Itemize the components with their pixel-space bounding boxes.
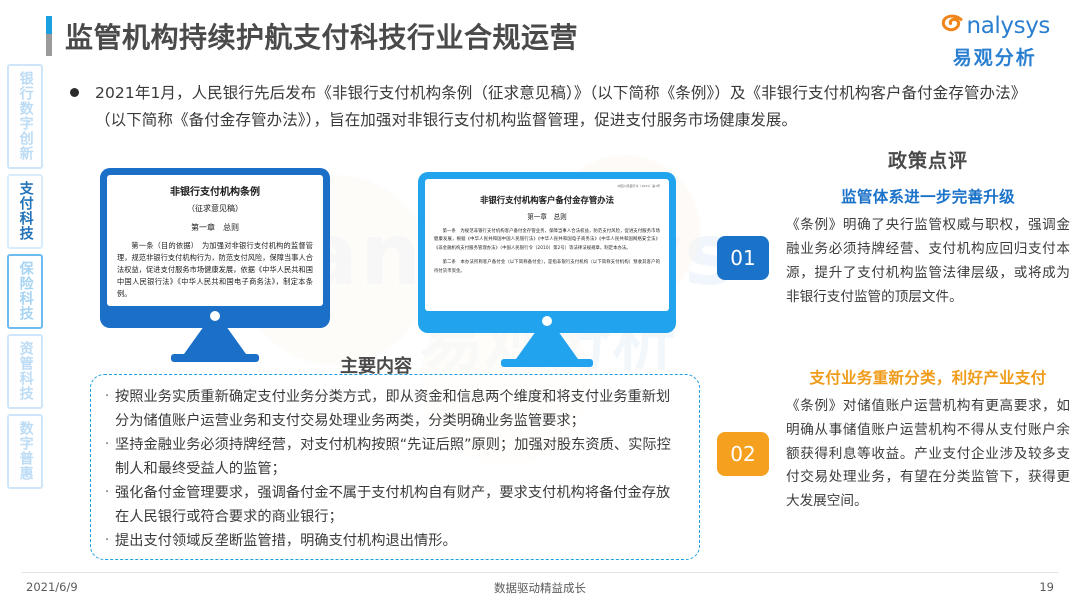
document-title: 非银行支付机构条例 <box>117 183 313 198</box>
document-paragraph-1: 第一条 为规范非银行支付机构客户备付金存管业务，保障当事人合法权益，防范支付风险… <box>434 228 660 253</box>
sidebar: 银行数字创新 支付科技 保险科技 资管科技 数字普惠 <box>7 64 43 489</box>
monitor-one-stand-neck <box>184 328 246 354</box>
document-paragraph-2: 第二条 本办法所称客户备付金（以下简称备付金），是指非银行支付机构（以下简称支付… <box>434 259 660 276</box>
list-item-text: 坚持金融业务必须持牌经营，对支付机构按照“先证后照”原则；加强对股东资质、实际控… <box>115 434 683 481</box>
policy-heading: 监管体系进一步完善升级 <box>786 185 1070 207</box>
brand-logo: nalysys 易观分析 <box>940 12 1050 70</box>
monitor-two-bezel: 中国人民银行令〔2021〕第1号 非银行支付机构客户备付金存管办法 第一章 总则… <box>418 172 676 333</box>
title-accent-bar <box>46 16 52 56</box>
list-item-text: 按照业务实质重新确定支付业务分类方式，即从资金和信息两个维度和将支付业务重新划分… <box>115 386 683 433</box>
sidebar-item-label: 保险科技 <box>17 261 32 321</box>
footer: 2021/6/9 数据驱动精益成长 19 <box>0 576 1080 606</box>
step-badge-label: 01 <box>730 246 755 270</box>
lead-paragraph-text: 2021年1月，人民银行先后发布《非银行支付机构条例（征求意见稿）》（以下简称《… <box>95 80 1030 133</box>
document-title: 非银行支付机构客户备付金存管办法 <box>434 194 660 206</box>
list-item: · 提出支付领域反垄断监管措，明确支付机构退出情形。 <box>105 530 683 554</box>
step-badge-02: 02 <box>717 432 769 476</box>
monitor-two-screen: 中国人民银行令〔2021〕第1号 非银行支付机构客户备付金存管办法 第一章 总则… <box>425 179 669 311</box>
policy-block-one: 监管体系进一步完善升级 《条例》明确了央行监管权威与职权，强调金融业务必须持牌经… <box>786 185 1070 310</box>
sidebar-item-label: 支付科技 <box>17 181 32 241</box>
sidebar-item-label: 银行数字创新 <box>17 71 32 161</box>
monitor-two-indicator-dot <box>542 316 552 326</box>
sidebar-item-asset-tech[interactable]: 资管科技 <box>7 334 43 409</box>
document-regulation-draft: 非银行支付机构条例 （征求意见稿） 第一章 总则 第一条（目的依据） 为加强对非… <box>107 175 323 306</box>
slide-root: analysys 易观分析 监管机构持续护航支付科技行业合规运营 nalysys… <box>0 0 1080 608</box>
list-bullet-icon: · <box>105 386 115 433</box>
monitor-two: 中国人民银行令〔2021〕第1号 非银行支付机构客户备付金存管办法 第一章 总则… <box>418 172 676 367</box>
policy-block-two: 支付业务重新分类，利好产业支付 《条例》对储值账户运营机构有更高要求，如明确从事… <box>786 366 1070 515</box>
logo-chinese-name: 易观分析 <box>940 43 1050 70</box>
monitor-one-stand-base <box>171 354 259 362</box>
document-subtitle: （征求意见稿） <box>117 203 313 214</box>
policy-comment-column: 政策点评 监管体系进一步完善升级 《条例》明确了央行监管权威与职权，强调金融业务… <box>786 146 1070 514</box>
sidebar-item-label: 数字普惠 <box>17 421 32 481</box>
monitor-two-stand-base <box>501 359 593 367</box>
document-paragraph: 第一条（目的依据） 为加强对非银行支付机构的监督管理，规范非银行支付机构行为，防… <box>117 240 313 299</box>
list-item: · 强化备付金管理要求，强调备付金不属于支付机构自有财产，要求支付机构将备付金存… <box>105 482 683 529</box>
list-item: · 坚持金融业务必须持牌经营，对支付机构按照“先证后照”原则；加强对股东资质、实… <box>105 434 683 481</box>
main-content-box: · 按照业务实质重新确定支付业务分类方式，即从资金和信息两个维度和将支付业务重新… <box>90 374 700 560</box>
policy-body-text: 《条例》明确了央行监管权威与职权，强调金融业务必须持牌经营、支付机构应回归支付本… <box>786 214 1070 310</box>
document-header-note: 中国人民银行令〔2021〕第1号 <box>434 184 660 188</box>
sidebar-item-digital-inclusive[interactable]: 数字普惠 <box>7 414 43 489</box>
monitor-one-bezel: 非银行支付机构条例 （征求意见稿） 第一章 总则 第一条（目的依据） 为加强对非… <box>100 168 330 328</box>
policy-heading: 支付业务重新分类，利好产业支付 <box>786 366 1070 388</box>
lead-paragraph: 2021年1月，人民银行先后发布《非银行支付机构条例（征求意见稿）》（以下简称《… <box>70 80 1030 133</box>
main-content-label: 主要内容 <box>340 352 412 378</box>
document-chapter: 第一章 总则 <box>434 211 660 221</box>
list-bullet-icon: · <box>105 434 115 481</box>
sidebar-item-payment-tech[interactable]: 支付科技 <box>7 174 43 249</box>
step-badge-01: 01 <box>717 236 769 280</box>
list-item-text: 提出支付领域反垄断监管措，明确支付机构退出情形。 <box>115 530 683 554</box>
monitor-one-screen: 非银行支付机构条例 （征求意见稿） 第一章 总则 第一条（目的依据） 为加强对非… <box>107 175 323 306</box>
footer-page-number: 19 <box>1039 580 1054 594</box>
monitor-one-indicator-dot <box>210 311 220 321</box>
bullet-dot-icon <box>70 88 79 97</box>
document-custody-measures: 中国人民银行令〔2021〕第1号 非银行支付机构客户备付金存管办法 第一章 总则… <box>425 179 669 281</box>
list-item-text: 强化备付金管理要求，强调备付金不属于支付机构自有财产，要求支付机构将备付金存放在… <box>115 482 683 529</box>
sidebar-item-label: 资管科技 <box>17 341 32 401</box>
page-title: 监管机构持续护航支付科技行业合规运营 <box>46 16 578 56</box>
document-chapter: 第一章 总则 <box>117 222 313 233</box>
footer-slogan: 数据驱动精益成长 <box>0 580 1080 596</box>
footer-divider <box>22 572 1058 573</box>
policy-comment-title: 政策点评 <box>786 146 1070 173</box>
analysys-swirl-icon <box>940 12 966 40</box>
monitor-two-stand-neck <box>516 333 578 359</box>
sidebar-item-bank-digital[interactable]: 银行数字创新 <box>7 64 43 169</box>
monitor-one: 非银行支付机构条例 （征求意见稿） 第一章 总则 第一条（目的依据） 为加强对非… <box>100 168 330 362</box>
logo-wordmark: nalysys <box>967 15 1050 38</box>
list-bullet-icon: · <box>105 530 115 554</box>
list-bullet-icon: · <box>105 482 115 529</box>
list-item: · 按照业务实质重新确定支付业务分类方式，即从资金和信息两个维度和将支付业务重新… <box>105 386 683 433</box>
policy-body-text: 《条例》对储值账户运营机构有更高要求，如明确从事储值账户运营机构不得从支付账户余… <box>786 395 1070 515</box>
title-text: 监管机构持续护航支付科技行业合规运营 <box>65 16 578 56</box>
sidebar-item-insurance-tech[interactable]: 保险科技 <box>7 254 43 329</box>
step-badge-label: 02 <box>730 442 755 466</box>
